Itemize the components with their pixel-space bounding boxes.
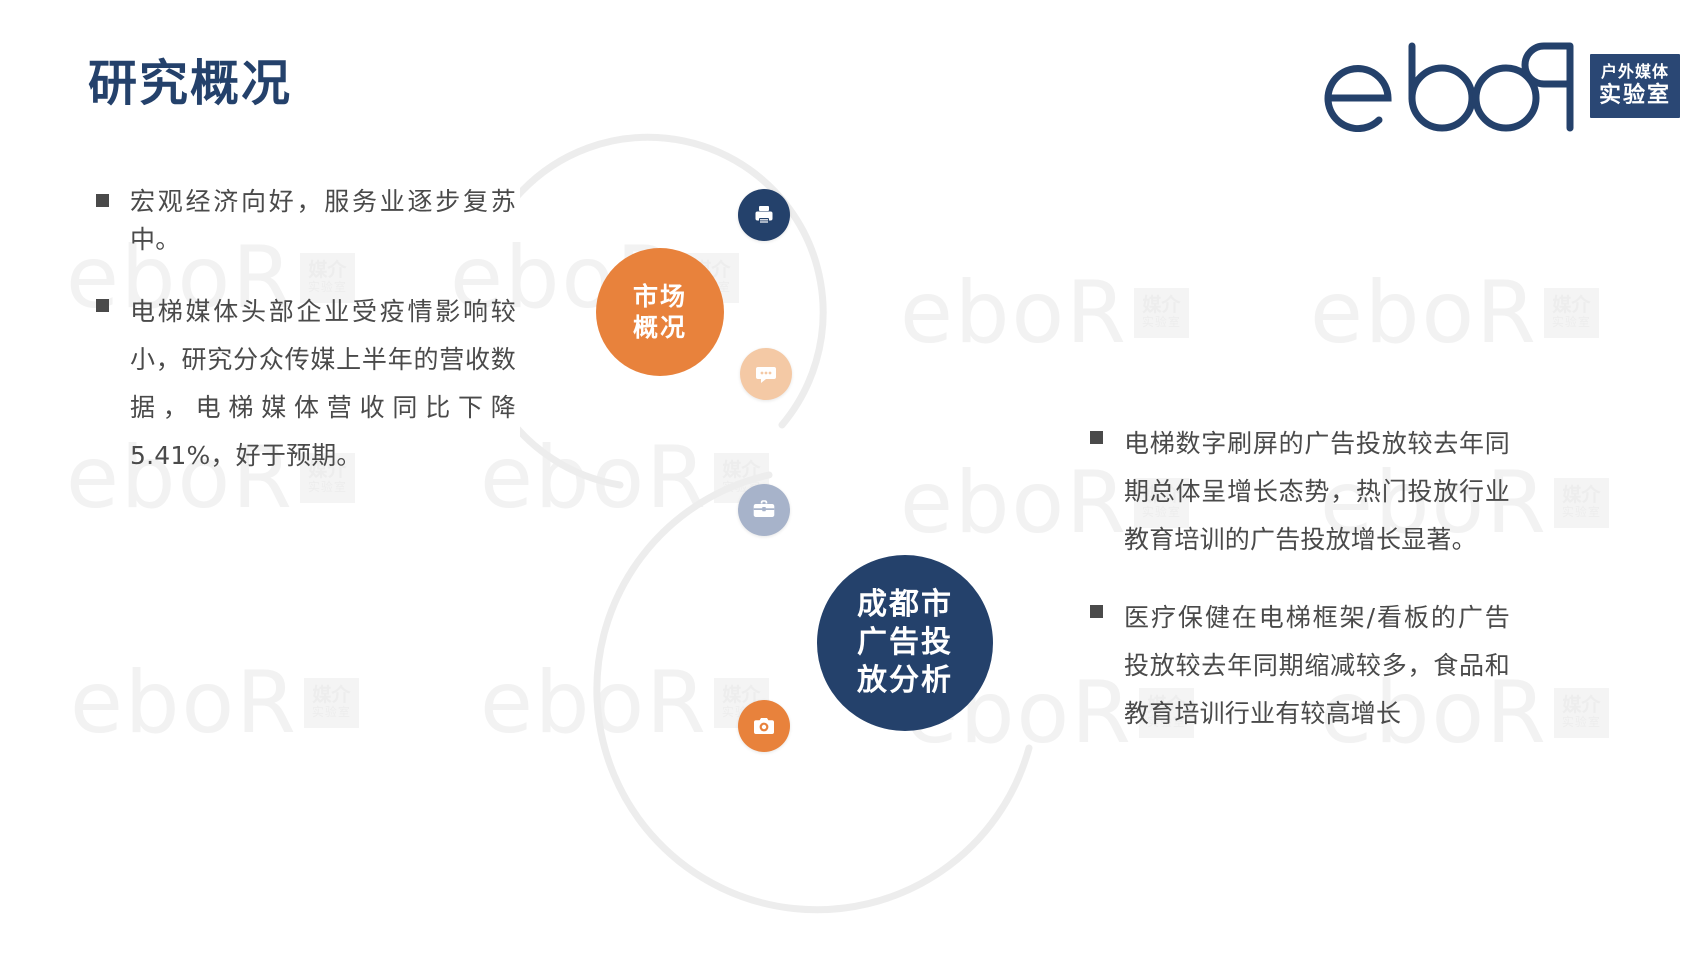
diagram-node-market-overview[interactable]: 市场 概况	[596, 248, 724, 376]
square-bullet-icon	[1090, 431, 1103, 444]
square-bullet-icon	[96, 194, 109, 207]
page-title: 研究概况	[88, 44, 292, 115]
watermark-tile: eboR 媒介 实验室	[1310, 270, 1599, 356]
diagram-icon-node-camera[interactable]	[738, 700, 790, 752]
slide-canvas: eboR 媒介 实验室 eboR 媒介 实验室 eboR 媒介 实验室 eboR…	[0, 0, 1706, 959]
diagram-node-chengdu-ad-analysis[interactable]: 成都市 广告投 放分析	[817, 555, 993, 731]
list-item: 医疗保健在电梯框架/看板的广告投放较去年同期缩减较多，食品和教育培训行业有较高增…	[1090, 594, 1510, 738]
list-item: 电梯媒体头部企业受疫情影响较小，研究分众传媒上半年的营收数据，电梯媒体营收同比下…	[96, 288, 516, 480]
right-bullet-list: 电梯数字刷屏的广告投放较去年同期总体呈增长态势，热门投放行业教育培训的广告投放增…	[1090, 420, 1510, 738]
watermark-tile: eboR 媒介 实验室	[70, 660, 359, 746]
watermark-wordmark: eboR	[1310, 270, 1538, 356]
list-item-label: 医疗保健在电梯框架/看板的广告投放较去年同期缩减较多，食品和教育培训行业有较高增…	[1124, 594, 1510, 738]
camera-icon	[752, 714, 776, 738]
logo-badge-line2: 实验室	[1599, 82, 1671, 110]
square-bullet-icon	[1090, 605, 1103, 618]
diagram-icon-node-briefcase[interactable]	[738, 484, 790, 536]
watermark-badge: 媒介 实验室	[1554, 688, 1609, 738]
list-item-label: 电梯数字刷屏的广告投放较去年同期总体呈增长态势，热门投放行业教育培训的广告投放增…	[1124, 420, 1510, 564]
watermark-wordmark: eboR	[70, 660, 298, 746]
watermark-badge: 媒介 实验室	[1134, 288, 1189, 338]
left-bullet-list: 宏观经济向好，服务业逐步复苏中。 电梯媒体头部企业受疫情影响较小，研究分众传媒上…	[96, 183, 516, 480]
watermark-badge: 媒介 实验室	[1544, 288, 1599, 338]
square-bullet-icon	[96, 299, 109, 312]
printer-icon	[752, 203, 776, 227]
node-label-line2: 广告投	[857, 624, 953, 662]
ebor-wordmark-icon	[1320, 40, 1582, 132]
brand-logo: 户外媒体 实验室	[1320, 40, 1680, 132]
list-item-label: 宏观经济向好，服务业逐步复苏中。	[130, 183, 516, 258]
diagram-icon-node-print[interactable]	[738, 189, 790, 241]
watermark-badge: 媒介 实验室	[1554, 478, 1609, 528]
list-item: 宏观经济向好，服务业逐步复苏中。	[96, 183, 516, 258]
logo-badge: 户外媒体 实验室	[1590, 54, 1680, 119]
watermark-badge: 媒介 实验室	[304, 678, 359, 728]
briefcase-icon	[751, 497, 777, 523]
node-label-line3: 放分析	[857, 662, 953, 700]
list-item-label: 电梯媒体头部企业受疫情影响较小，研究分众传媒上半年的营收数据，电梯媒体营收同比下…	[130, 288, 516, 480]
node-label-line1: 市场	[633, 281, 687, 313]
logo-badge-line1: 户外媒体	[1599, 62, 1671, 82]
list-item: 电梯数字刷屏的广告投放较去年同期总体呈增长态势，热门投放行业教育培训的广告投放增…	[1090, 420, 1510, 564]
diagram-arcs	[520, 130, 1100, 920]
node-label-line2: 概况	[633, 312, 687, 344]
diagram-icon-node-chat[interactable]	[740, 348, 792, 400]
node-label-line1: 成都市	[857, 586, 953, 624]
circular-diagram: 市场 概况 成都市 广告投 放分析	[520, 130, 1100, 920]
chat-bubble-icon	[754, 362, 778, 386]
